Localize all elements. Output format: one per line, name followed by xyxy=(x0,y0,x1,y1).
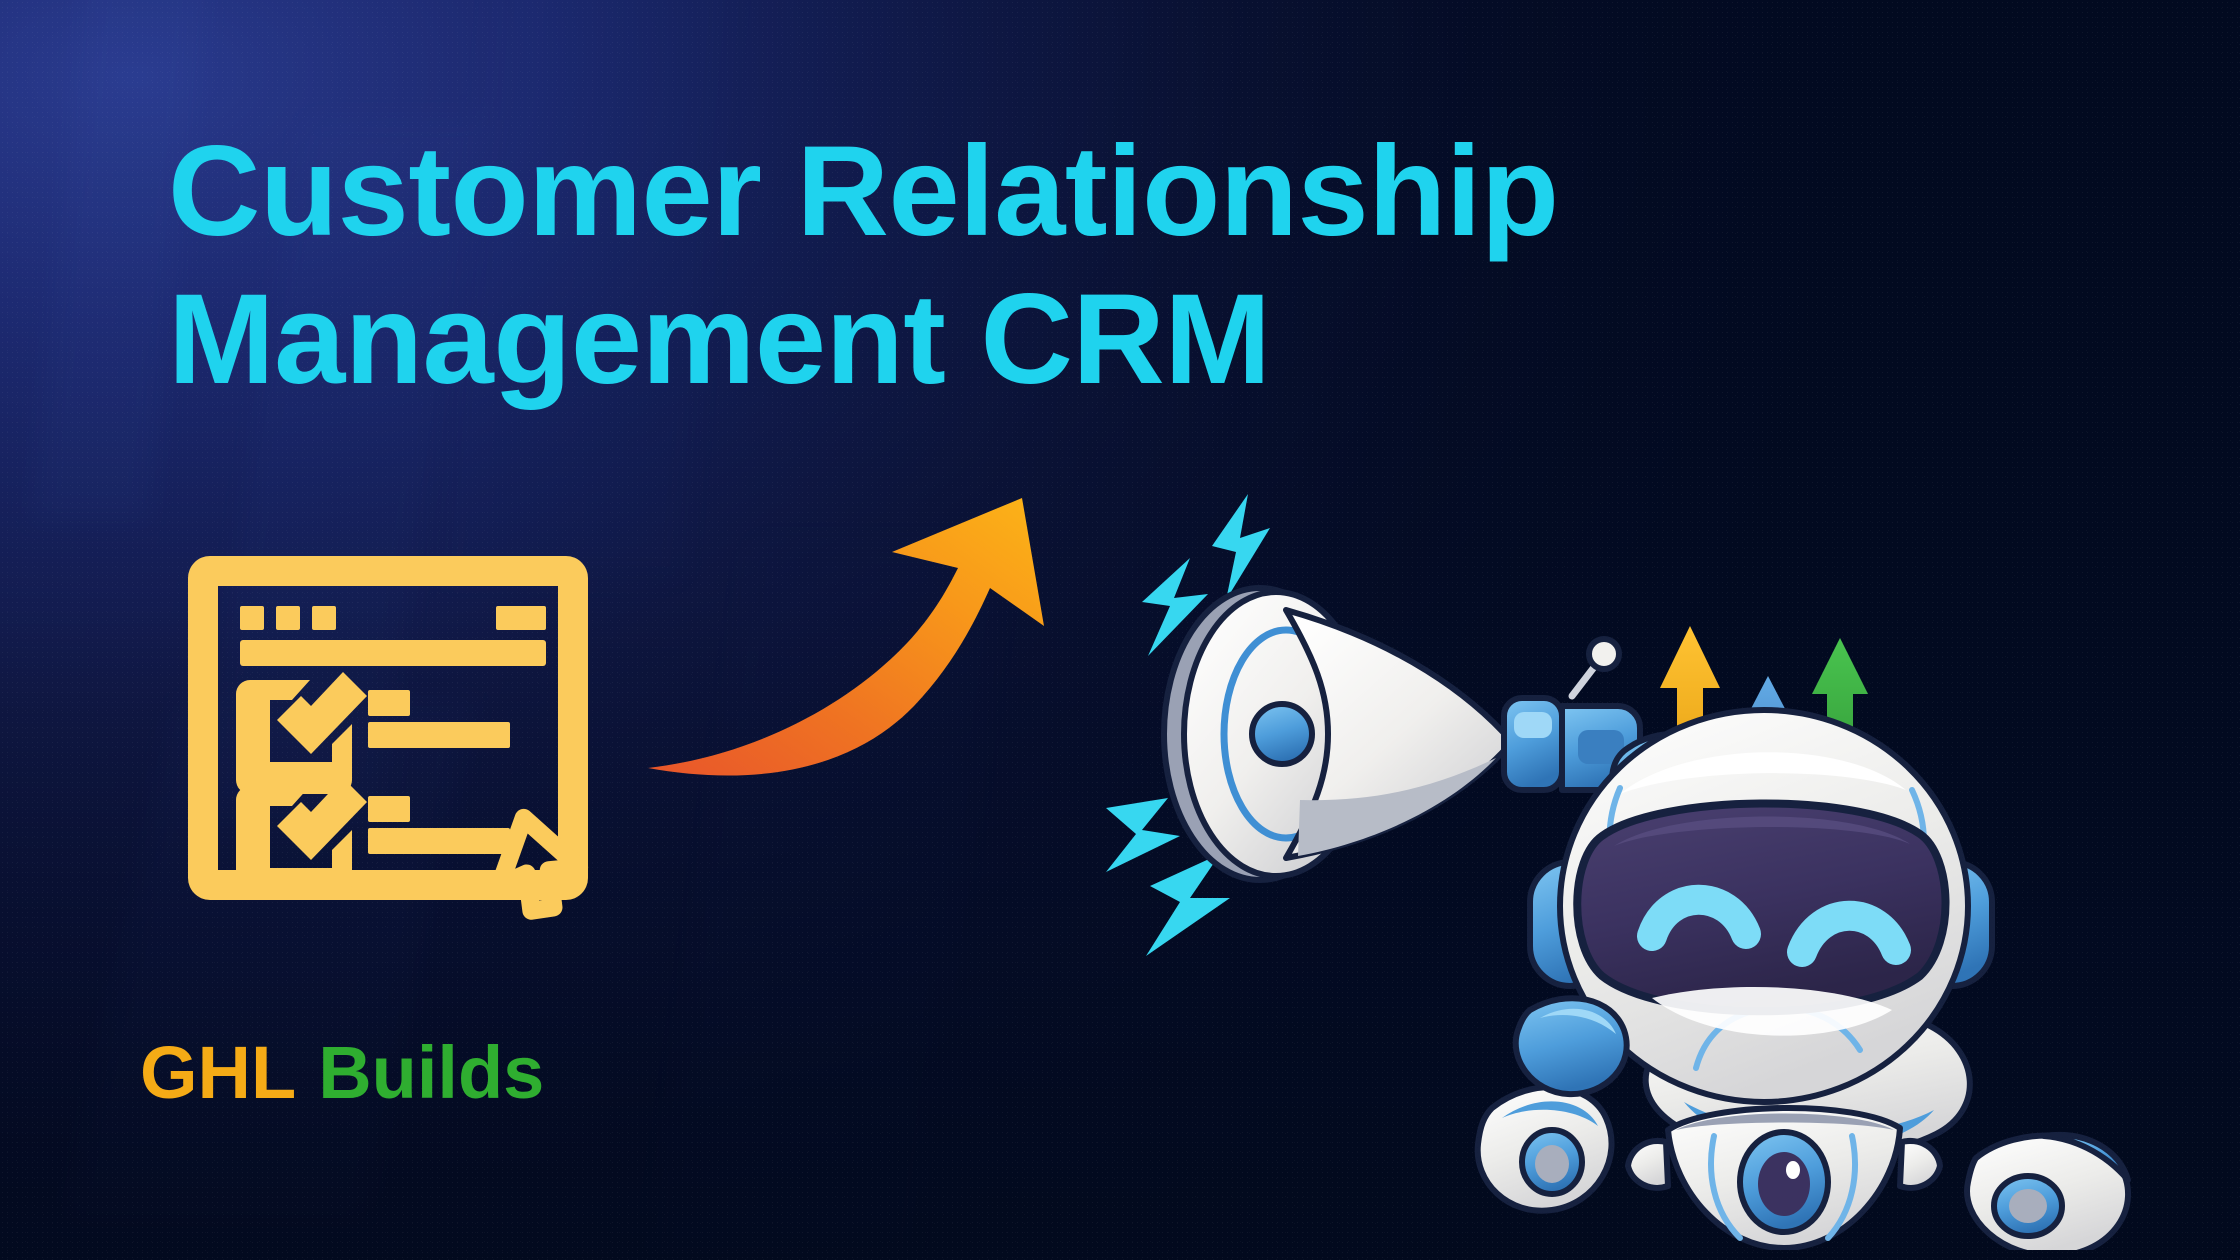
robot-pod-upper-left xyxy=(1516,998,1627,1094)
page-title: Customer Relationship Management CRM xyxy=(168,118,1808,415)
robot-pod-right xyxy=(1967,1135,2128,1250)
robot-pod-left xyxy=(1478,1087,1612,1211)
growth-arrow-icon xyxy=(640,484,1080,804)
page-title-line-1: Customer Relationship xyxy=(168,118,1808,266)
checklist-window-icon xyxy=(188,548,618,948)
brand-primary: GHL xyxy=(140,1031,296,1114)
megaphone xyxy=(1164,588,1640,880)
page-title-line-2: Management CRM xyxy=(168,266,1808,414)
brand-secondary: Builds xyxy=(318,1031,544,1114)
robot-lower-body xyxy=(1628,1108,1940,1248)
robot-mascot-with-megaphone xyxy=(1100,490,2190,1250)
thumbnail-canvas: Customer Relationship Management CRM xyxy=(0,0,2240,1260)
brand-lockup: GHLBuilds xyxy=(140,1030,544,1115)
